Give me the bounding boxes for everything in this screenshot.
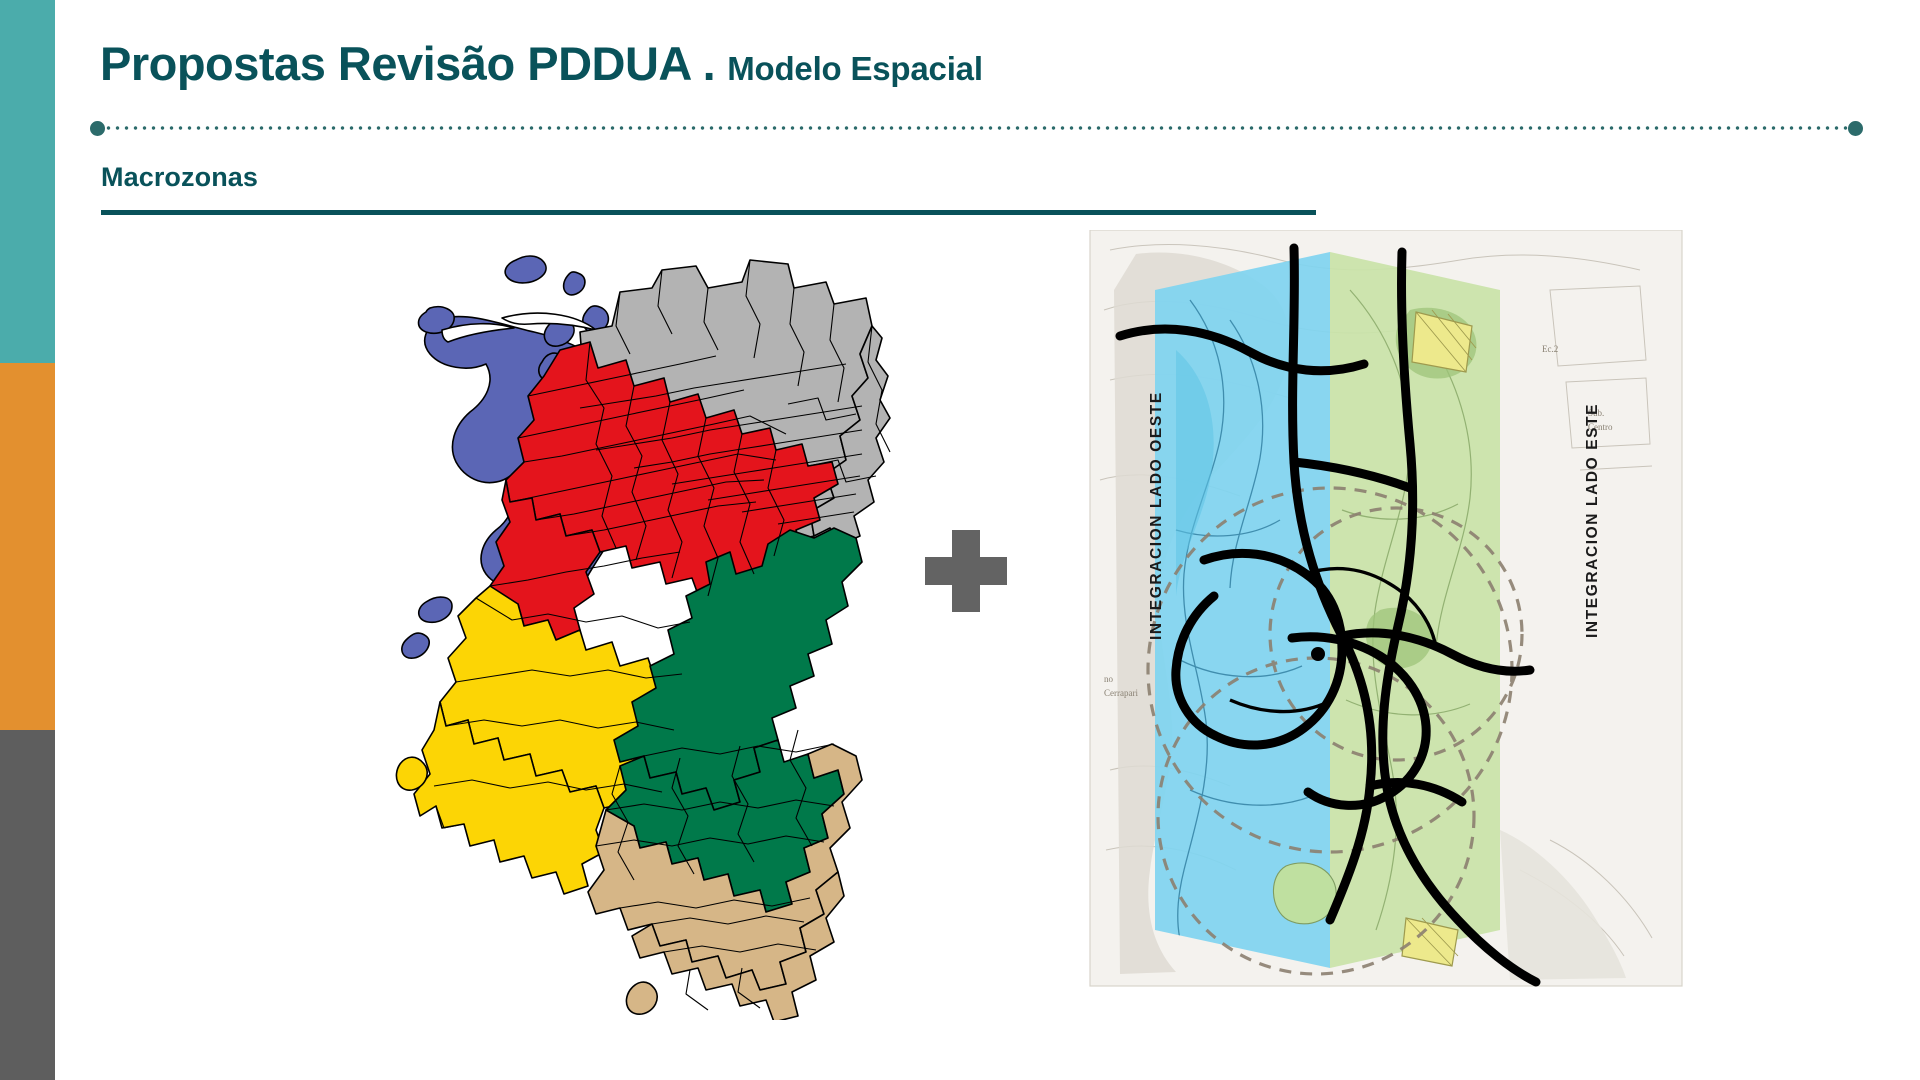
label-integracion-lado-oeste: INTEGRACION LADO OESTE xyxy=(1148,391,1166,640)
plus-vertical-bar xyxy=(952,530,980,612)
section-heading-underline xyxy=(101,210,1316,215)
label-integracion-lado-este: INTEGRACION LADO ESTE xyxy=(1584,403,1602,638)
page-title: Propostas Revisão PDDUA . Modelo Espacia… xyxy=(100,36,983,91)
divider-dot-left xyxy=(90,121,105,136)
content-area: Ec.2 Sub. Centro no Cerrapari INTEGRACIO… xyxy=(0,230,1920,1060)
macrozonas-map xyxy=(390,230,930,1020)
svg-text:Cerrapari: Cerrapari xyxy=(1104,688,1138,698)
page-title-sub: Modelo Espacial xyxy=(727,50,983,88)
slide-canvas: Propostas Revisão PDDUA . Modelo Espacia… xyxy=(0,0,1920,1080)
svg-text:Ec.2: Ec.2 xyxy=(1542,344,1558,354)
corridor-node xyxy=(1311,647,1325,661)
macrozonas-map-svg xyxy=(390,230,930,1020)
divider-dot-right xyxy=(1848,121,1863,136)
svg-text:no: no xyxy=(1104,674,1114,684)
plus-operator-icon xyxy=(925,530,1007,612)
dotted-divider xyxy=(104,125,1852,131)
west-integration-band xyxy=(1155,252,1330,968)
page-title-main: Propostas Revisão PDDUA . xyxy=(100,36,715,91)
section-heading: Macrozonas xyxy=(101,162,258,193)
